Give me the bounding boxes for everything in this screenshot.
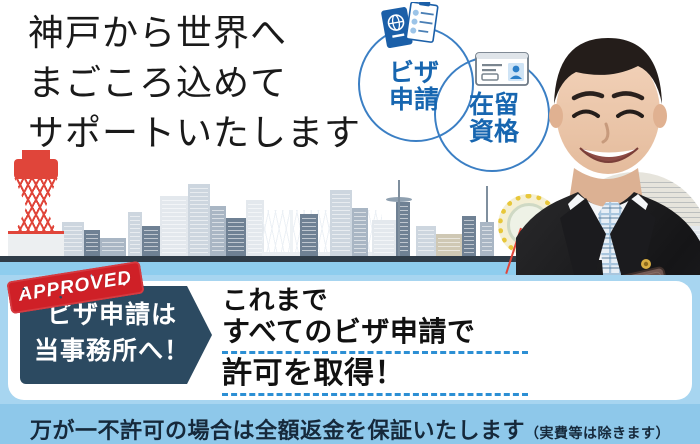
building [416, 226, 436, 256]
visa-service-banner: 神戸から世界へ まごころ込めて サポートいたします ビザ 申請 在留 資格 [0, 0, 700, 444]
passport-document-icon [380, 2, 442, 57]
building [300, 214, 318, 256]
building [436, 234, 462, 256]
headline: 神戸から世界へ まごころ込めて サポートいたします [28, 8, 408, 158]
visa-label-line-1: ビザ [368, 60, 460, 87]
building [160, 196, 188, 256]
building [480, 222, 494, 256]
building [210, 206, 226, 256]
building [142, 226, 160, 256]
guarantee-main-text: 万が一不許可の場合は全額返金を保証いたします [30, 418, 525, 443]
claim-line-1: これまで [222, 286, 642, 315]
kobe-port-tower [8, 150, 64, 256]
claim-line-2: すべてのビザ申請で [222, 315, 642, 349]
headline-line-3: サポートいたします [28, 108, 408, 158]
building [128, 212, 142, 256]
dashed-underline-bottom [222, 393, 528, 396]
guarantee-note-text: （実費等は除きます） [525, 425, 670, 441]
arrow-line-2: 当事務所へ！ [28, 334, 196, 370]
building [352, 208, 368, 256]
arrow-banner-text: ビザ申請は 当事務所へ！ [28, 298, 196, 369]
visa-label-line-2: 申請 [368, 87, 460, 114]
tower-observatory [14, 159, 58, 179]
building [226, 218, 246, 256]
claim-line-3: 許可を取得！ [222, 356, 642, 391]
building [462, 216, 476, 256]
building [62, 222, 84, 256]
building [100, 238, 126, 256]
visa-circle-label: ビザ 申請 [368, 60, 460, 114]
building [372, 220, 396, 256]
building [84, 230, 100, 256]
building [188, 184, 210, 256]
building [330, 190, 352, 256]
bridge-pylon [290, 210, 293, 256]
antenna-mast [398, 180, 400, 256]
headline-line-2: まごころ込めて [28, 58, 408, 108]
tower-lattice [14, 177, 58, 235]
headline-line-1: 神戸から世界へ [28, 8, 408, 58]
track-record-claim: これまで すべてのビザ申請で 許可を取得！ [222, 286, 642, 398]
guarantee-footer-text: 万が一不許可の場合は全額返金を保証いたします（実費等は除きます） [30, 413, 670, 444]
dashed-underline-top [222, 351, 528, 354]
tower-base [8, 231, 64, 256]
